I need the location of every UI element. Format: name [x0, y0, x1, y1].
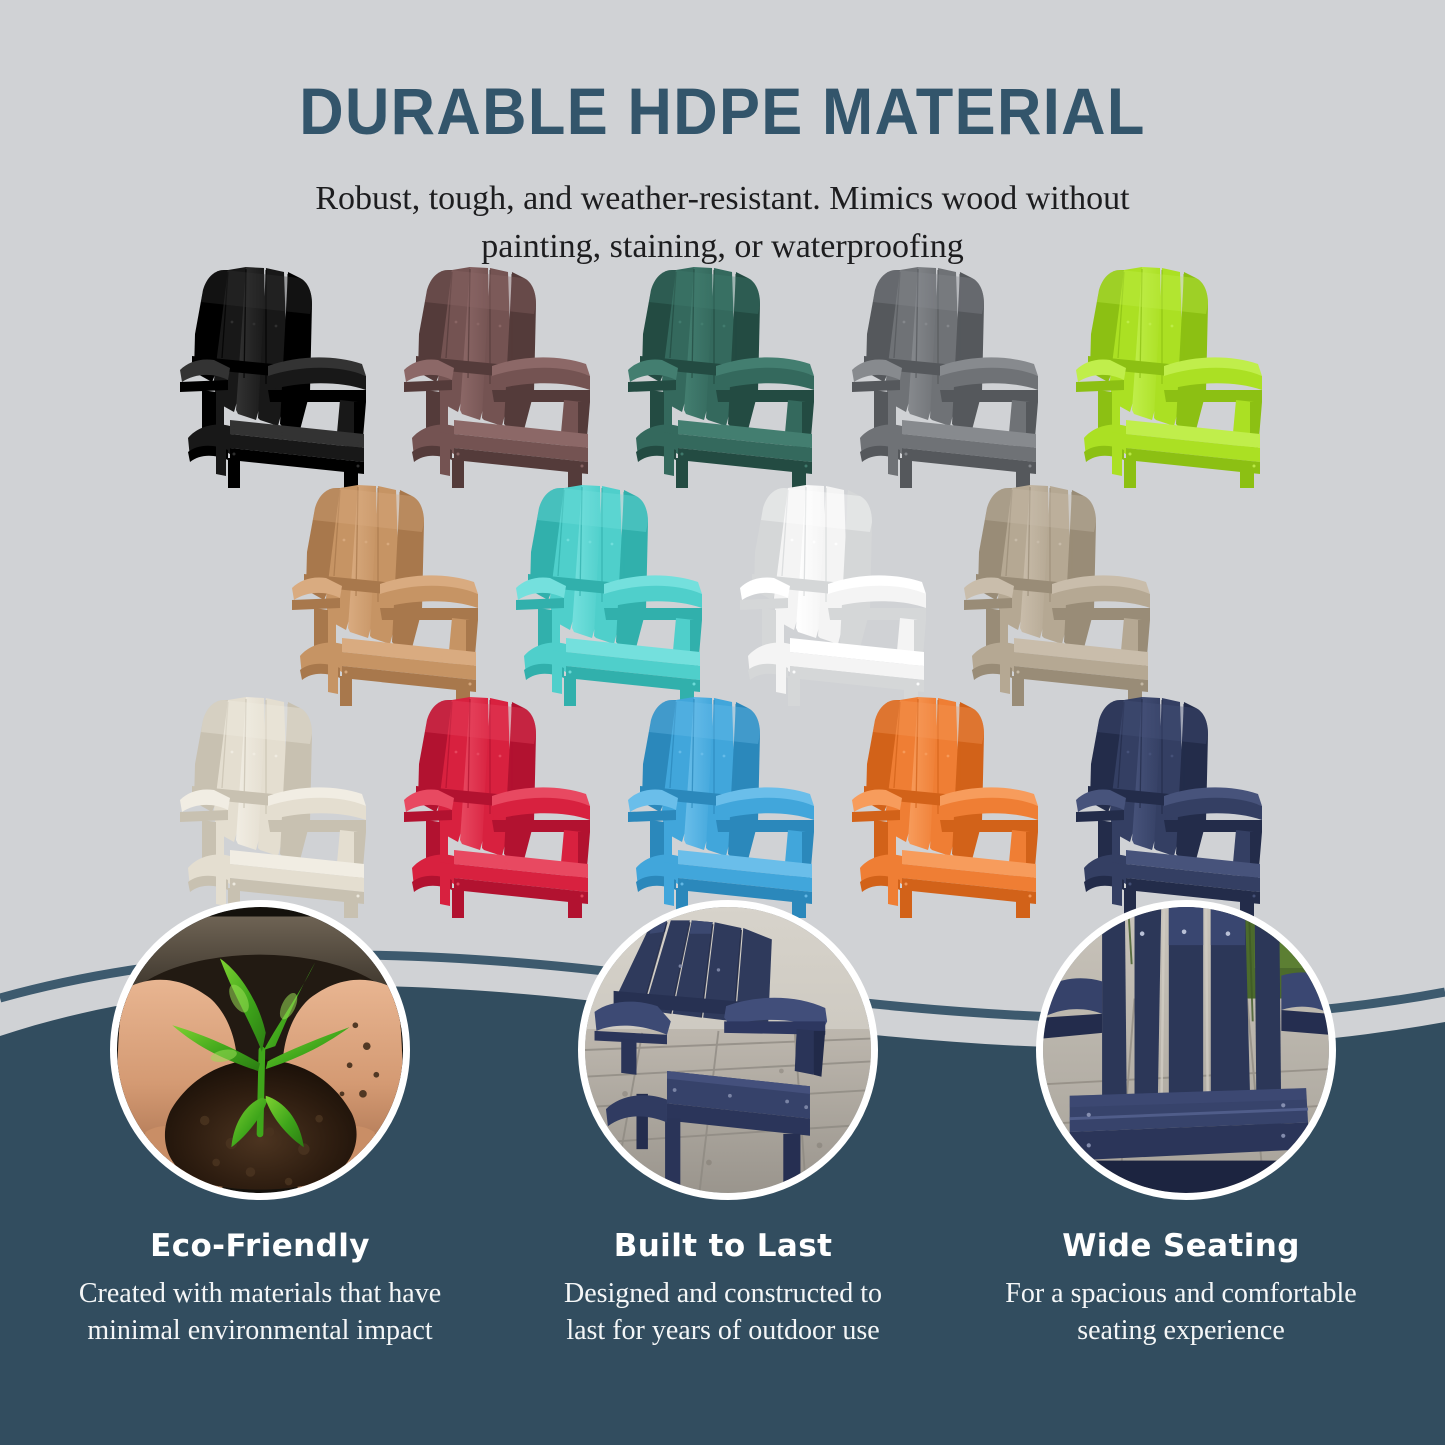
feature-title: Built to Last	[483, 1228, 963, 1264]
chair-row-3	[0, 692, 1445, 922]
chair-taupe[interactable]	[947, 480, 1171, 710]
page-subtitle: Robust, tough, and weather-resistant. Mi…	[218, 175, 1228, 272]
chair-black-svg	[172, 262, 378, 488]
chair-teak-svg	[284, 480, 490, 706]
chair-brown-svg	[396, 262, 602, 488]
chair-ivory-svg	[172, 692, 378, 918]
chair-navy[interactable]	[1059, 692, 1283, 922]
feature-description-line2: last for years of outdoor use	[566, 1315, 879, 1346]
feature-description-line1: Created with materials that have	[79, 1278, 441, 1309]
feature-wide-seating: Wide Seating For a spacious and comforta…	[941, 1228, 1421, 1350]
chair-taupe-svg	[956, 480, 1162, 706]
feature-description-line1: For a spacious and comfortable	[1005, 1278, 1356, 1309]
chair-black[interactable]	[163, 262, 387, 492]
feature-built-to-last: Built to Last Designed and constructed t…	[483, 1228, 963, 1350]
chair-light-blue-svg	[620, 692, 826, 918]
chair-teak[interactable]	[275, 480, 499, 710]
feature-title: Eco-Friendly	[20, 1228, 500, 1264]
chair-turquoise[interactable]	[499, 480, 723, 710]
feature-eco-friendly: Eco-Friendly Created with materials that…	[20, 1228, 500, 1350]
chair-white-svg	[732, 480, 938, 706]
chair-brown[interactable]	[387, 262, 611, 492]
feature-description: Created with materials that have minimal…	[20, 1276, 500, 1350]
chair-row-1	[0, 262, 1445, 492]
infographic-canvas: DURABLE HDPE MATERIAL Robust, tough, and…	[0, 0, 1445, 1445]
chair-row-2	[0, 480, 1445, 710]
chair-light-blue[interactable]	[611, 692, 835, 922]
feature-description: For a spacious and comfortable seating e…	[941, 1276, 1421, 1350]
feature-title: Wide Seating	[941, 1228, 1421, 1264]
chair-lime-green-svg	[1068, 262, 1274, 488]
chair-white[interactable]	[723, 480, 947, 710]
navy-adirondack-chair-patio-photo	[585, 907, 871, 1193]
navy-chair-back-slats-closeup-photo	[1043, 907, 1329, 1193]
feature-captions: Eco-Friendly Created with materials that…	[0, 1228, 1445, 1408]
chair-red[interactable]	[387, 692, 611, 922]
page-subtitle-line1: Robust, tough, and weather-resistant. Mi…	[218, 175, 1228, 223]
page-title: DURABLE HDPE MATERIAL	[51, 73, 1395, 149]
chair-navy-svg	[1068, 692, 1274, 918]
chair-dark-green[interactable]	[611, 262, 835, 492]
chair-dark-green-svg	[620, 262, 826, 488]
chair-turquoise-svg	[508, 480, 714, 706]
chair-ivory[interactable]	[163, 692, 387, 922]
chair-orange-svg	[844, 692, 1050, 918]
chair-color-grid	[0, 262, 1445, 912]
chair-orange[interactable]	[835, 692, 1059, 922]
chair-lime-green[interactable]	[1059, 262, 1283, 492]
chair-gray[interactable]	[835, 262, 1059, 492]
chair-gray-svg	[844, 262, 1050, 488]
feature-description-line1: Designed and constructed to	[564, 1278, 882, 1309]
chair-red-svg	[396, 692, 602, 918]
highlight-image-eco	[110, 900, 410, 1200]
feature-description-line2: minimal environmental impact	[87, 1315, 432, 1346]
feature-description-line2: seating experience	[1077, 1315, 1285, 1346]
feature-description: Designed and constructed to last for yea…	[483, 1276, 963, 1350]
hands-holding-seedling-photo	[117, 907, 403, 1193]
highlight-image-durability	[578, 900, 878, 1200]
highlight-image-wide-seating	[1036, 900, 1336, 1200]
